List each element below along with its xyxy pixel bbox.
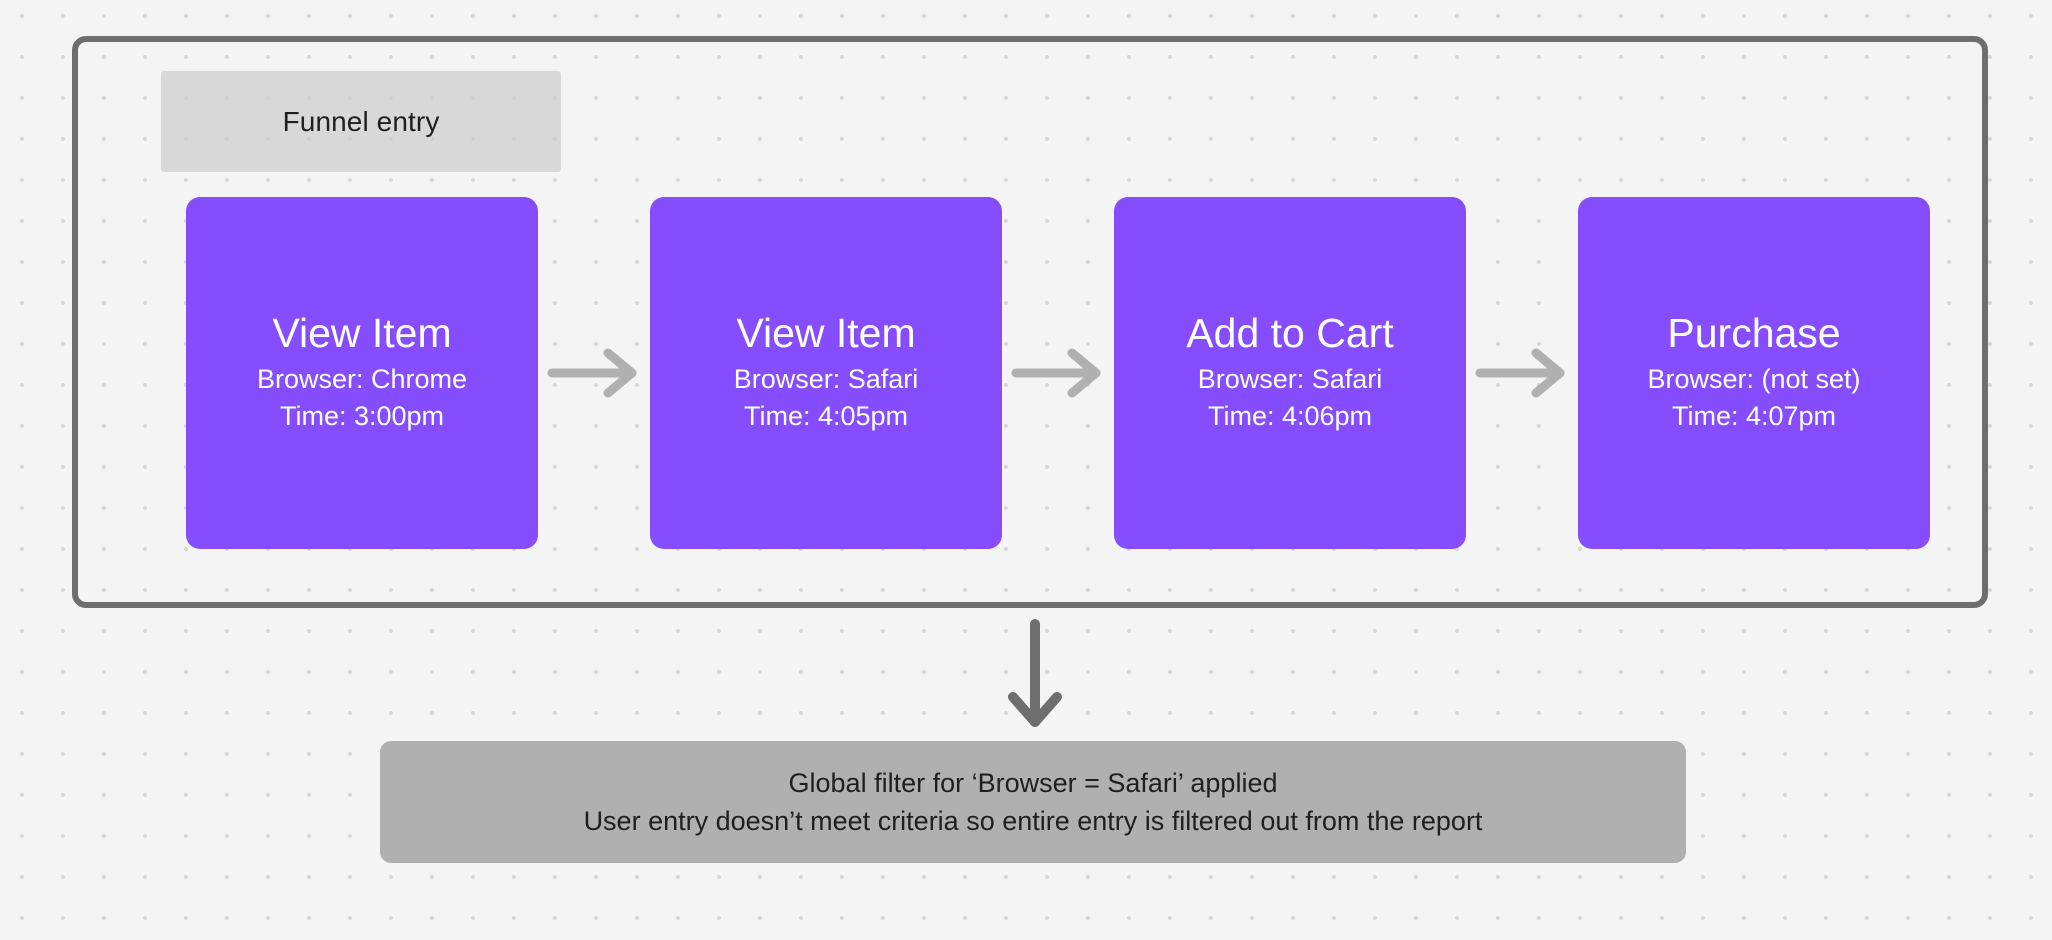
step-title: Add to Cart (1186, 311, 1393, 357)
step-time: Time: 4:06pm (1208, 398, 1372, 435)
funnel-steps-row: View Item Browser: Chrome Time: 3:00pm V… (186, 197, 1930, 549)
filter-note-line-1: Global filter for ‘Browser = Safari’ app… (789, 764, 1278, 802)
arrow-down-icon (1005, 618, 1065, 732)
funnel-step-card-2[interactable]: View Item Browser: Safari Time: 4:05pm (650, 197, 1002, 549)
funnel-step-card-1[interactable]: View Item Browser: Chrome Time: 3:00pm (186, 197, 538, 549)
funnel-entry-label-text: Funnel entry (283, 106, 440, 138)
step-browser: Browser: Chrome (257, 361, 467, 398)
arrow-right-icon (546, 345, 642, 401)
funnel-step-card-3[interactable]: Add to Cart Browser: Safari Time: 4:06pm (1114, 197, 1466, 549)
step-browser: Browser: Safari (1198, 361, 1383, 398)
funnel-entry-label: Funnel entry (161, 71, 561, 172)
arrow-right-icon (1474, 345, 1570, 401)
step-time: Time: 4:05pm (744, 398, 908, 435)
step-time: Time: 4:07pm (1672, 398, 1836, 435)
funnel-step-card-4[interactable]: Purchase Browser: (not set) Time: 4:07pm (1578, 197, 1930, 549)
step-time: Time: 3:00pm (280, 398, 444, 435)
filter-note-line-2: User entry doesn’t meet criteria so enti… (584, 802, 1483, 840)
arrow-right-icon (1010, 345, 1106, 401)
step-browser: Browser: (not set) (1647, 361, 1860, 398)
step-title: Purchase (1667, 311, 1840, 357)
step-browser: Browser: Safari (734, 361, 919, 398)
filter-note-banner: Global filter for ‘Browser = Safari’ app… (380, 741, 1686, 863)
step-title: View Item (272, 311, 451, 357)
step-title: View Item (736, 311, 915, 357)
diagram-canvas: Funnel entry View Item Browser: Chrome T… (0, 0, 2052, 940)
